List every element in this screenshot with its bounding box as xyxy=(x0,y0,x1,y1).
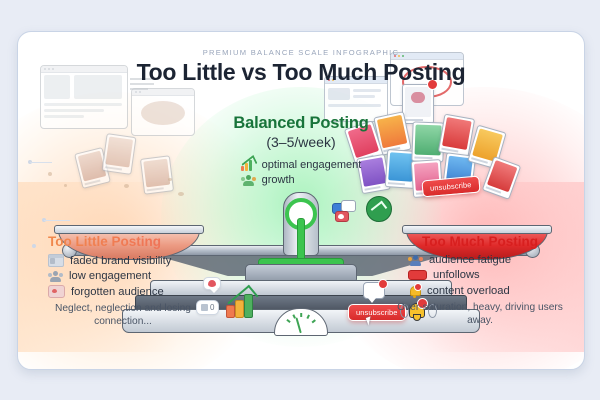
faded-window-icon xyxy=(48,254,64,267)
infographic-stage: unsubscribe PREMIUM BALANCE SCALE INFOGR… xyxy=(0,0,600,400)
cursor-pointer-icon xyxy=(367,317,372,325)
left-bullet-label: low engagement xyxy=(69,270,151,282)
chat-reactions-cluster xyxy=(332,200,358,222)
heart-comment-icon xyxy=(48,285,65,298)
left-column: Too Little Posting faded brand visibilit… xyxy=(36,234,216,328)
right-bullet-label: audience fatigue xyxy=(429,254,511,266)
balanced-block: Balanced Posting (3–5/week) optimal enga… xyxy=(18,114,584,191)
kicker-label: PREMIUM BALANCE SCALE INFOGRAPHIC xyxy=(18,48,584,57)
network-line xyxy=(44,220,70,221)
right-bullet: unfollows xyxy=(390,269,570,281)
growth-badge-icon xyxy=(366,196,392,222)
people-color-icon xyxy=(408,255,423,266)
balanced-title: Balanced Posting xyxy=(18,114,584,133)
balanced-point: optimal engagement xyxy=(241,158,362,171)
right-bullet: audience fatigue xyxy=(390,254,570,266)
scale-pan-rim-right xyxy=(402,225,552,234)
scale-base-tier1 xyxy=(245,264,357,284)
scale-pan-rim-left xyxy=(54,225,204,234)
balance-gauge xyxy=(274,308,328,336)
balanced-subtitle: (3–5/week) xyxy=(18,134,584,150)
left-bullet: low engagement xyxy=(36,270,216,282)
infographic-card: unsubscribe PREMIUM BALANCE SCALE INFOGR… xyxy=(17,31,585,370)
unsubscribe-pill-icon xyxy=(408,270,427,280)
right-column: Too Much Posting audience fatigue unfoll… xyxy=(390,234,570,327)
dust-dot xyxy=(178,192,184,196)
right-bullet: content overload xyxy=(390,284,570,297)
scale-neck xyxy=(283,192,319,256)
growth-chart-float xyxy=(226,290,260,318)
people-group-icon xyxy=(241,175,256,186)
left-bullet: faded brand visibility xyxy=(36,254,216,267)
left-bullet: forgotten audience xyxy=(36,285,216,298)
bar-chart-growth-icon xyxy=(241,158,256,171)
scale-green-bar xyxy=(258,258,344,269)
left-bullet-label: faded brand visibility xyxy=(70,255,171,267)
gauge-needle xyxy=(295,317,302,333)
right-column-caption: Over-saturation, heavy, driving users aw… xyxy=(390,301,570,327)
balanced-point-label: growth xyxy=(262,174,295,186)
right-bullet-label: unfollows xyxy=(433,269,480,281)
left-bullet-label: forgotten audience xyxy=(71,286,164,298)
right-bullet-label: content overload xyxy=(427,285,510,297)
scale-ring xyxy=(285,198,317,230)
bell-alert-icon xyxy=(408,284,421,297)
balanced-point: growth xyxy=(241,174,362,186)
notification-bubble-float xyxy=(363,282,385,299)
balanced-point-label: optimal engagement xyxy=(262,159,362,171)
menu-line xyxy=(130,88,148,90)
balanced-points: optimal engagement growth xyxy=(241,155,362,186)
scale-rod xyxy=(297,218,305,264)
right-column-heading: Too Much Posting xyxy=(390,234,570,249)
page-title: Too Little vs Too Much Posting xyxy=(18,59,584,86)
left-column-heading: Too Little Posting xyxy=(36,234,216,249)
people-grey-icon xyxy=(48,271,63,282)
left-column-caption: Neglect, neglection and losing connectio… xyxy=(36,302,216,328)
